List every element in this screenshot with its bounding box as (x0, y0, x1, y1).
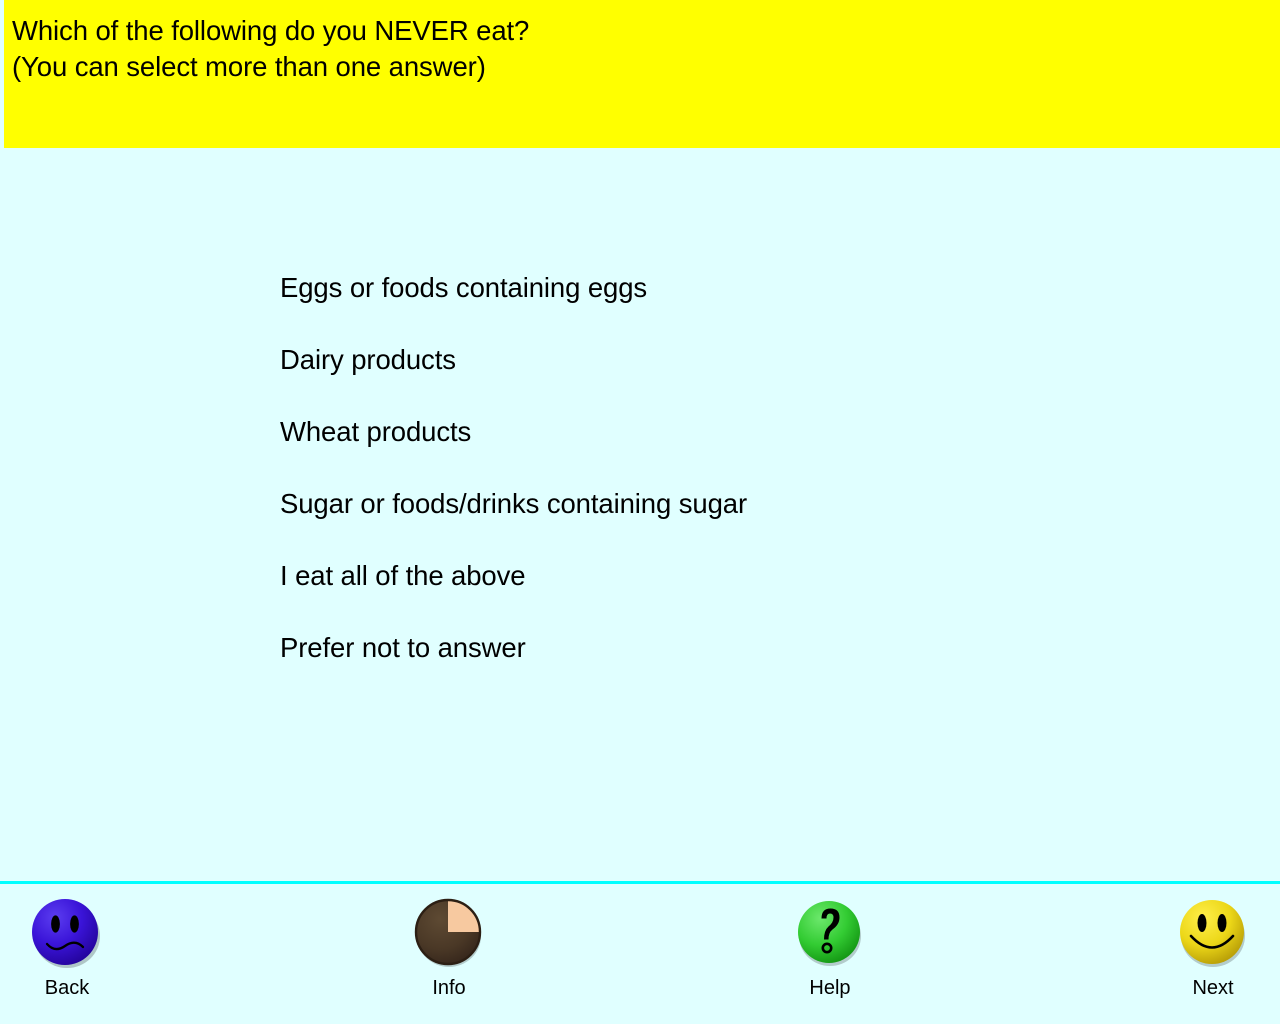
option-label: Sugar or foods/drinks containing sugar (280, 485, 747, 523)
option-sugar[interactable]: Sugar or foods/drinks containing sugar (280, 485, 747, 523)
help-label: Help (809, 977, 850, 999)
option-label: Prefer not to answer (280, 629, 526, 667)
navigation-bar: Back Info (0, 884, 1280, 1024)
question-instruction: (You can select more than one answer) (12, 49, 1280, 85)
back-button[interactable]: Back (0, 894, 137, 999)
option-label: Wheat products (280, 413, 471, 451)
questionnaire-screen: Which of the following do you NEVER eat?… (0, 0, 1280, 1024)
options-list: Eggs or foods containing eggs Dairy prod… (0, 148, 1280, 881)
option-label: Dairy products (280, 341, 456, 379)
back-label: Back (45, 977, 89, 999)
info-label: Info (432, 977, 465, 999)
option-eggs[interactable]: Eggs or foods containing eggs (280, 269, 647, 307)
option-label: I eat all of the above (280, 557, 525, 595)
option-dairy[interactable]: Dairy products (280, 341, 456, 379)
question-mark-icon (791, 894, 869, 972)
question-text: Which of the following do you NEVER eat? (12, 13, 1280, 49)
next-label: Next (1192, 977, 1233, 999)
next-button[interactable]: Next (1143, 894, 1280, 999)
option-label: Eggs or foods containing eggs (280, 269, 647, 307)
question-header: Which of the following do you NEVER eat?… (4, 0, 1280, 148)
help-button[interactable]: Help (760, 894, 900, 999)
happy-face-icon (1174, 894, 1252, 972)
sad-face-icon (28, 894, 106, 972)
option-prefer-not-to-answer[interactable]: Prefer not to answer (280, 629, 526, 667)
info-button[interactable]: Info (379, 894, 519, 999)
option-wheat[interactable]: Wheat products (280, 413, 471, 451)
pie-chart-icon (410, 894, 488, 972)
option-all-of-the-above[interactable]: I eat all of the above (280, 557, 525, 595)
